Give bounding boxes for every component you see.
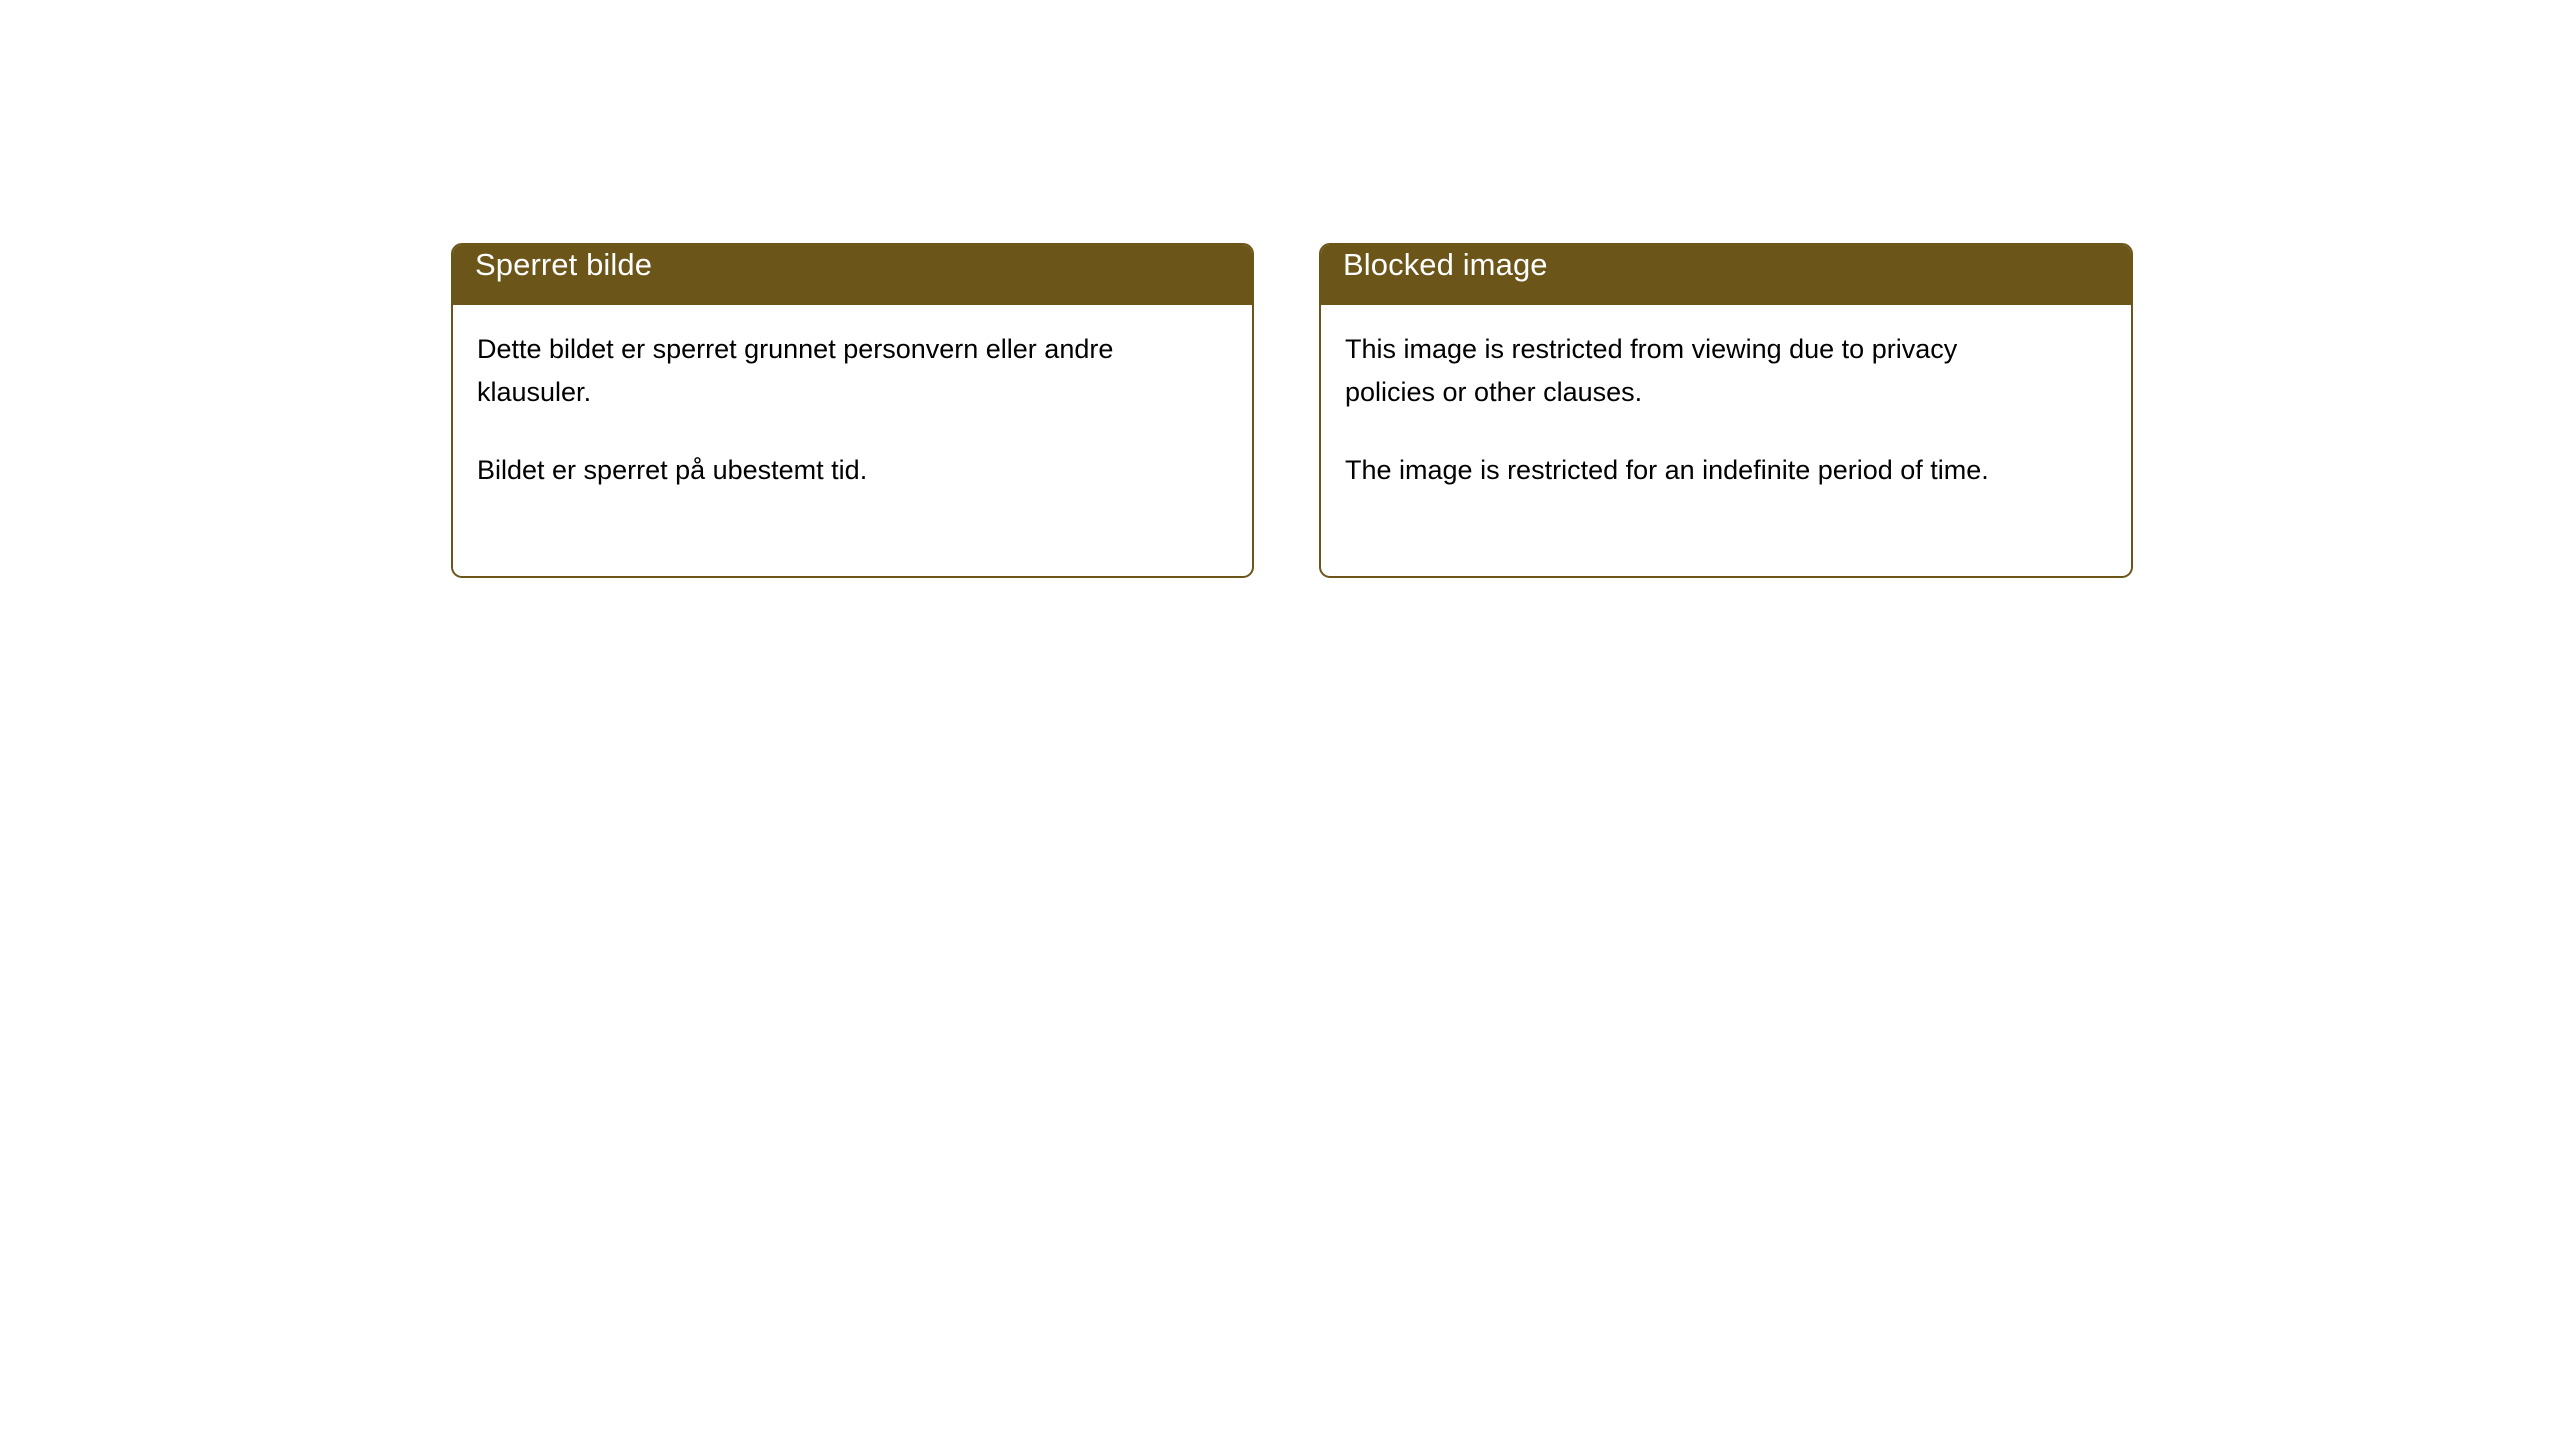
page-canvas: Sperret bilde Dette bildet er sperret gr… (0, 0, 2560, 1440)
card-message-secondary-english: The image is restricted for an indefinit… (1345, 449, 2051, 492)
card-message-secondary-norwegian: Bildet er sperret på ubestemt tid. (477, 449, 1217, 492)
blocked-image-card-norwegian: Sperret bilde Dette bildet er sperret gr… (451, 243, 1254, 578)
card-message-primary-norwegian: Dette bildet er sperret grunnet personve… (477, 328, 1177, 414)
card-header-norwegian: Sperret bilde (451, 243, 1254, 305)
card-header-english: Blocked image (1319, 243, 2133, 305)
card-message-primary-english: This image is restricted from viewing du… (1345, 328, 2051, 414)
card-title-norwegian: Sperret bilde (451, 249, 652, 280)
card-title-english: Blocked image (1319, 249, 1548, 280)
card-body-english: This image is restricted from viewing du… (1321, 305, 2131, 576)
blocked-image-card-english: Blocked image This image is restricted f… (1319, 243, 2133, 578)
card-body-norwegian: Dette bildet er sperret grunnet personve… (453, 305, 1252, 576)
